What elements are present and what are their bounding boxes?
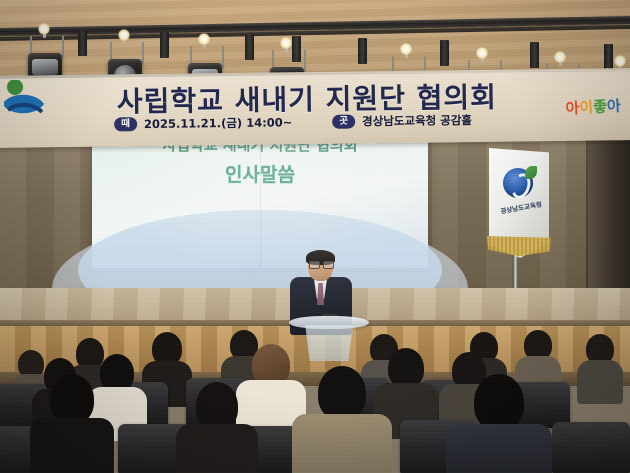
person-head [50, 374, 94, 424]
logo-char-2: 이 [579, 98, 594, 117]
event-banner: 사립학교 새내기 지원단 협의회 때 2025.11.21.(금) 14:00~… [0, 68, 630, 148]
lamp-lens [32, 59, 58, 75]
lamp-glow [198, 33, 210, 45]
eyeglasses-icon [309, 261, 332, 267]
person-body [176, 424, 258, 473]
truss-rod [358, 38, 367, 64]
auditorium-chair [552, 422, 630, 473]
logo-char-1: 아 [565, 99, 580, 118]
truss-rod [78, 30, 87, 56]
person-head [474, 374, 524, 430]
truss-rod [245, 34, 254, 60]
place-text: 경상남도교육청 공감홀 [362, 112, 472, 129]
datetime-text: 2025.11.21.(금) 14:00~ [144, 114, 293, 132]
slide-subtitle-line: 인사말씀 [92, 160, 428, 187]
person-body [292, 414, 392, 473]
lamp-glow [614, 55, 626, 67]
truss-rod [530, 42, 539, 68]
person-head [196, 382, 238, 430]
lamp-glow [400, 43, 412, 55]
audience-area [0, 330, 630, 473]
banner-subline: 때 2025.11.21.(금) 14:00~ 곳 경상남도교육청 공감홀 [114, 109, 534, 134]
lamp-glow [38, 23, 50, 35]
truss-rod [160, 32, 169, 58]
lamp-glow [118, 29, 130, 41]
place-pill: 곳 [332, 114, 355, 129]
person-body [577, 360, 623, 404]
person-head [388, 348, 424, 388]
person-body [30, 418, 114, 473]
lamp-glow [476, 47, 488, 59]
truss-rod [440, 40, 449, 66]
truss-rod [604, 44, 613, 70]
auditorium-photo: 사립학교 새내기 지원단 협의회 인사말씀 사립학교 새내기 지원단 협의회 때… [0, 0, 630, 473]
person-head [318, 366, 366, 420]
person-body [446, 424, 552, 473]
datetime-pill: 때 [114, 117, 137, 132]
ai-jota-logo: 아이좋아 [565, 94, 629, 135]
logo-char-4: 아 [607, 97, 622, 116]
blue-swoosh-icon [2, 80, 58, 126]
lamp-glow [280, 37, 292, 49]
lamp-glow [554, 51, 566, 63]
